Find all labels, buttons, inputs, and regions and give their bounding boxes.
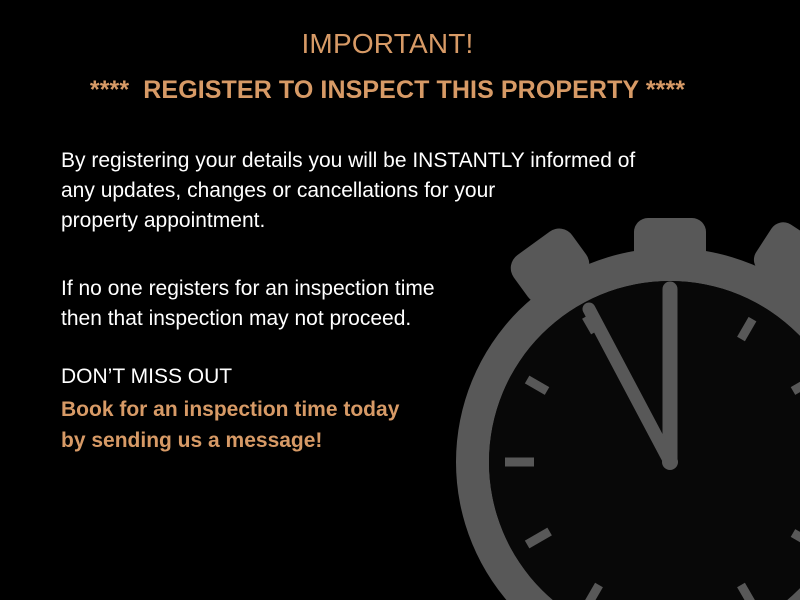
paragraph-no-registration-warning: If no one registers for an inspection ti…: [61, 274, 435, 334]
cta-booking-message: Book for an inspection time today by sen…: [61, 394, 399, 456]
headline-register: **** REGISTER TO INSPECT THIS PROPERTY *…: [0, 76, 775, 105]
text-content: IMPORTANT! **** REGISTER TO INSPECT THIS…: [0, 0, 800, 600]
cta-heading: DON’T MISS OUT: [61, 362, 232, 392]
headline-important: IMPORTANT!: [0, 28, 775, 60]
slide-canvas: IMPORTANT! **** REGISTER TO INSPECT THIS…: [0, 0, 800, 600]
paragraph-registering-benefits: By registering your details you will be …: [61, 146, 635, 236]
